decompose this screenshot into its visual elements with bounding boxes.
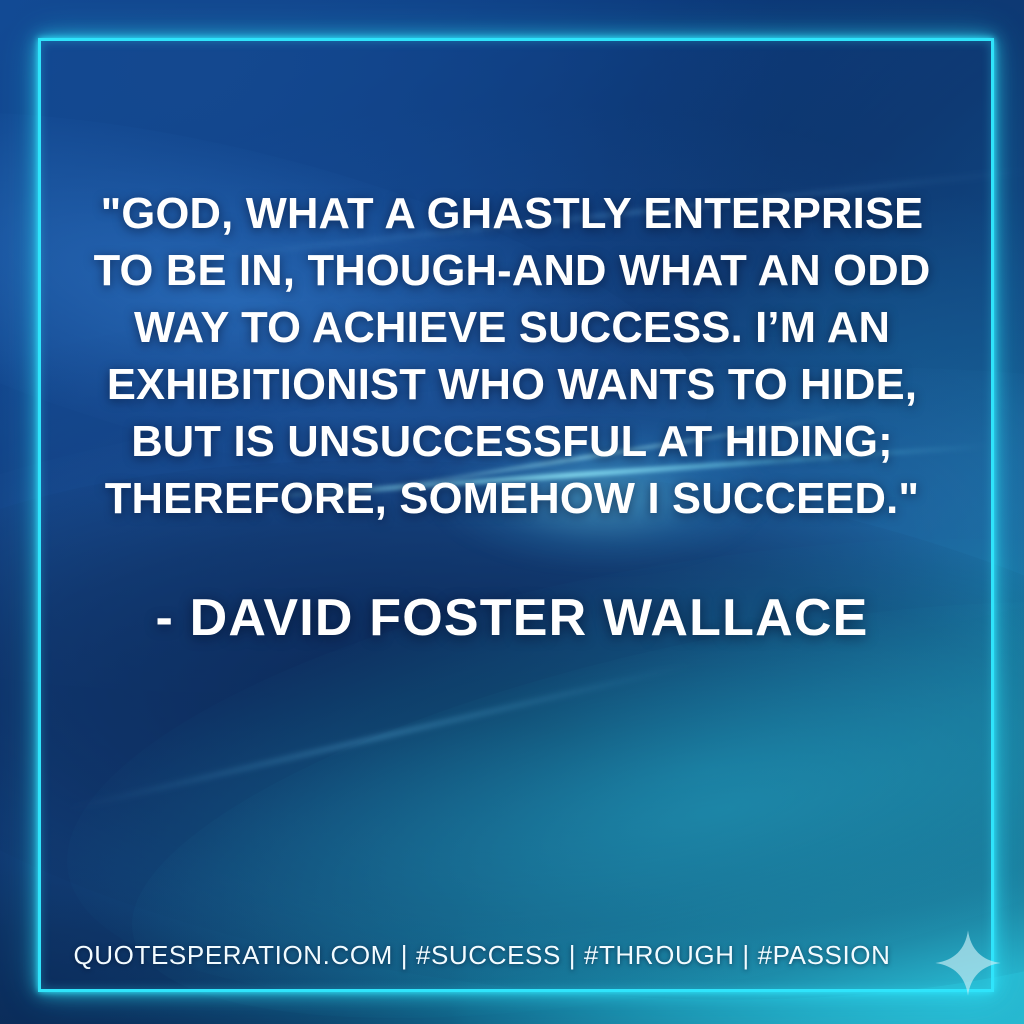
quote-card: "GOD, WHAT A GHASTLY ENTERPRISE TO BE IN… — [0, 0, 1024, 1024]
quote-line: THEREFORE, SOMEHOW I SUCCEED." — [62, 471, 962, 528]
sparkle-icon — [934, 929, 1002, 997]
quote-line: TO BE IN, THOUGH-AND WHAT AN ODD — [62, 243, 962, 300]
quote-line: "GOD, WHAT A GHASTLY ENTERPRISE — [62, 186, 962, 243]
quote-text: "GOD, WHAT A GHASTLY ENTERPRISE TO BE IN… — [62, 186, 962, 528]
quote-line: WAY TO ACHIEVE SUCCESS. I’M AN — [62, 300, 962, 357]
quote-author: - DAVID FOSTER WALLACE — [62, 588, 962, 648]
footer-attribution: QUOTESPERATION.COM | #SUCCESS | #THROUGH… — [62, 940, 902, 971]
quote-line: EXHIBITIONIST WHO WANTS TO HIDE, — [62, 357, 962, 414]
quote-line: BUT IS UNSUCCESSFUL AT HIDING; — [62, 414, 962, 471]
